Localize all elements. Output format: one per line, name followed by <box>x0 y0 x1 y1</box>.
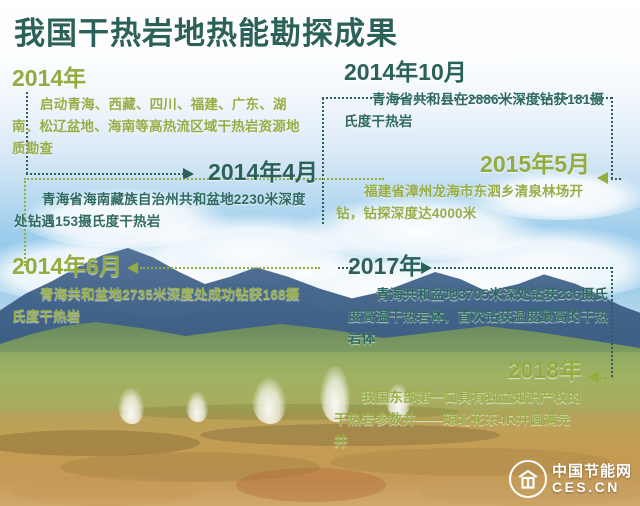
event-block-2018: 2018年 我国东部第一口具有独立知识产权的干热岩参数井——琼北花东4R井圆满完… <box>356 358 582 453</box>
infographic-poster: 我国干热岩地热能勘探成果 2014年 启动青海、西藏、四川、福建、广东、湖南、松… <box>0 0 640 506</box>
event-body-2014-06: 青海共和盆地2735米深度处成功钻获168摄氏度干热岩 <box>12 284 304 328</box>
event-year-2015-05: 2015年5月 <box>336 152 590 176</box>
event-year-2014: 2014年 <box>12 66 312 90</box>
event-block-2014: 2014年 启动青海、西藏、四川、福建、广东、湖南、松辽盆地、海南等高热流区域干… <box>12 66 312 160</box>
ces-logo-icon <box>509 460 547 498</box>
event-body-2017: 青海共和盆地3705米深处钻获236摄氏度高温干热岩体，首次钻获温度最高的干热岩… <box>348 284 616 350</box>
page-title: 我国干热岩地热能勘探成果 <box>14 8 398 53</box>
site-logo: 中国节能网 CES.CN <box>509 460 632 498</box>
logo-name-en: CES.CN <box>552 480 632 494</box>
event-block-2015-05: 2015年5月 福建省漳州龙海市东泗乡清泉林场开钻，钻探深度达4000米 <box>336 152 590 225</box>
event-year-2017: 2017年 <box>348 254 624 278</box>
event-body-2014-04: 青海省海南藏族自治州共和盆地2230米深度处钻遇153摄氏度干热岩 <box>14 189 314 233</box>
event-block-2014-04: 2014年4月 青海省海南藏族自治州共和盆地2230米深度处钻遇153摄氏度干热… <box>14 160 320 233</box>
event-block-2014-06: 2014年6月 青海共和盆地2735米深度处成功钻获168摄氏度干热岩 <box>12 254 312 328</box>
logo-text-group: 中国节能网 CES.CN <box>552 464 632 494</box>
event-body-2014-10: 青海省共和县在2886米深度钻获181摄氏度干热岩 <box>344 89 612 133</box>
event-body-2015-05: 福建省漳州龙海市东泗乡清泉林场开钻，钻探深度达4000米 <box>336 181 586 225</box>
event-body-2018: 我国东部第一口具有独立知识产权的干热岩参数井——琼北花东4R井圆满完井 <box>334 387 582 453</box>
logo-name-cn: 中国节能网 <box>552 464 632 479</box>
event-body-2014: 启动青海、西藏、四川、福建、广东、湖南、松辽盆地、海南等高热流区域干热岩资源地质… <box>12 94 304 160</box>
event-block-2017: 2017年 青海共和盆地3705米深处钻获236摄氏度高温干热岩体，首次钻获温度… <box>348 254 624 350</box>
event-year-2014-06: 2014年6月 <box>12 254 312 278</box>
event-year-2018: 2018年 <box>356 358 582 382</box>
event-block-2014-10: 2014年10月 青海省共和县在2886米深度钻获181摄氏度干热岩 <box>344 60 630 133</box>
event-year-2014-04: 2014年4月 <box>14 160 320 184</box>
event-year-2014-10: 2014年10月 <box>344 60 630 84</box>
